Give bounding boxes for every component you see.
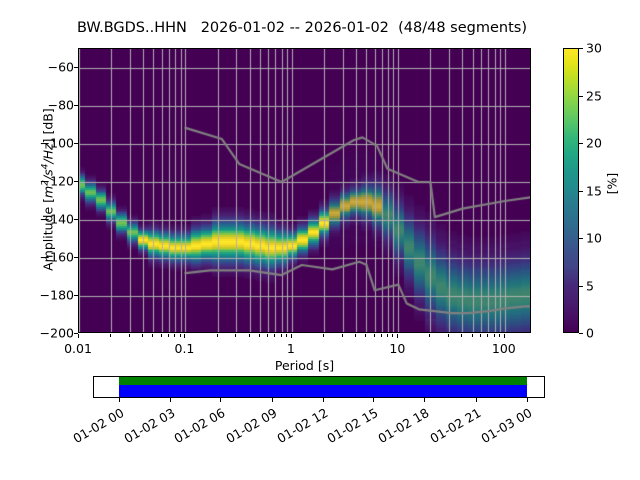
y-tick-mark	[74, 219, 78, 220]
y-tick-mark	[74, 143, 78, 144]
x-tick-mark-minor	[274, 334, 275, 337]
coverage-axes	[93, 376, 545, 398]
x-tick-mark-minor	[355, 334, 356, 337]
y-tick-mark	[74, 67, 78, 68]
y-tick-mark	[74, 105, 78, 106]
colorbar	[563, 48, 579, 333]
coverage-tick-mark	[373, 398, 374, 402]
x-tick-mark-minor	[381, 334, 382, 337]
x-tick-mark-minor	[161, 334, 162, 337]
coverage-tick-label: 01-02 00	[65, 405, 126, 449]
y-axis-ticks: −60−80−100−120−140−160−180−200	[0, 48, 74, 333]
x-tick-mark-minor	[259, 334, 260, 337]
colorbar-tick-mark	[579, 143, 583, 144]
y-tick-label: −200	[2, 326, 74, 341]
x-tick-mark-minor	[472, 334, 473, 337]
x-tick-label: 100	[474, 341, 534, 356]
coverage-tick-mark	[527, 398, 528, 402]
y-tick-label: −160	[2, 250, 74, 265]
x-tick-mark-major	[397, 334, 398, 338]
colorbar-tick-mark	[579, 191, 583, 192]
coverage-band-blue	[119, 385, 527, 397]
colorbar-tick-label: 20	[586, 136, 602, 151]
colorbar-tick-mark	[579, 333, 583, 334]
coverage-tick-label: 01-02 09	[218, 405, 279, 449]
x-tick-mark-minor	[168, 334, 169, 337]
y-tick-label: −80	[2, 98, 74, 113]
colorbar-tick-label: 10	[586, 231, 602, 246]
x-tick-mark-minor	[152, 334, 153, 337]
coverage-tick-mark	[323, 398, 324, 402]
x-tick-mark-minor	[235, 334, 236, 337]
x-tick-mark-major	[504, 334, 505, 338]
colorbar-tick-mark	[579, 96, 583, 97]
coverage-tick-mark	[424, 398, 425, 402]
y-axis-label-math: m2/s4/Hz	[41, 143, 56, 198]
x-tick-mark-minor	[374, 334, 375, 337]
x-tick-mark-minor	[494, 334, 495, 337]
y-axis-label-prefix: Amplitude [	[41, 198, 56, 271]
colorbar-tick-label: 5	[586, 278, 594, 293]
x-tick-mark-minor	[499, 334, 500, 337]
y-tick-label: −140	[2, 212, 74, 227]
x-tick-mark-minor	[286, 334, 287, 337]
x-tick-mark-minor	[281, 334, 282, 337]
coverage-tick-label: 01-02 12	[269, 405, 330, 449]
x-tick-mark-minor	[110, 334, 111, 337]
colorbar-tick-label: 15	[586, 183, 602, 198]
x-tick-mark-minor	[180, 334, 181, 337]
y-tick-label: −100	[2, 136, 74, 151]
colorbar-tick-label: 25	[586, 88, 602, 103]
colorbar-tick-mark	[579, 238, 583, 239]
y-tick-label: −180	[2, 288, 74, 303]
y-tick-mark	[74, 181, 78, 182]
coverage-tick-label: 01-02 03	[116, 405, 177, 449]
colorbar-tick-mark	[579, 48, 583, 49]
colorbar-tick-label: 30	[586, 41, 602, 56]
coverage-tick-mark	[476, 398, 477, 402]
noise-model-curves	[79, 49, 531, 333]
coverage-tick-mark	[220, 398, 221, 402]
x-tick-mark-minor	[174, 334, 175, 337]
x-tick-mark-minor	[267, 334, 268, 337]
coverage-tick-label: 01-02 21	[422, 405, 483, 449]
x-tick-mark-minor	[342, 334, 343, 337]
x-tick-mark-major	[291, 334, 292, 338]
coverage-band-green	[119, 377, 527, 385]
coverage-tick-label: 01-03 00	[473, 405, 534, 449]
ppsd-axes	[78, 48, 531, 333]
y-tick-label: −60	[2, 60, 74, 75]
x-tick-mark-minor	[217, 334, 218, 337]
coverage-tick-label: 01-02 15	[320, 405, 381, 449]
coverage-data-span	[119, 377, 527, 397]
x-axis-label: Period [s]	[78, 358, 531, 373]
y-axis-label: Amplitude [m2/s4/Hz] [dB]	[40, 50, 55, 330]
x-tick-mark-minor	[392, 334, 393, 337]
x-tick-mark-minor	[142, 334, 143, 337]
x-tick-label: 0.01	[48, 341, 108, 356]
colorbar-label: [%]	[605, 164, 620, 204]
coverage-tick-mark	[170, 398, 171, 402]
ppsd-figure: BW.BGDS..HHN 2026-01-02 -- 2026-01-02 (4…	[0, 0, 640, 480]
coverage-tick-mark	[119, 398, 120, 402]
x-tick-mark-minor	[480, 334, 481, 337]
x-tick-mark-major	[78, 334, 79, 338]
coverage-tick-label: 01-02 06	[167, 405, 228, 449]
x-tick-mark-minor	[323, 334, 324, 337]
coverage-time-ticks: 01-02 0001-02 0301-02 0601-02 0901-02 12…	[93, 398, 545, 410]
colorbar-tick-mark	[579, 286, 583, 287]
x-tick-mark-minor	[387, 334, 388, 337]
y-tick-mark	[74, 257, 78, 258]
y-axis-label-suffix: ] [dB]	[41, 108, 56, 143]
x-tick-mark-minor	[249, 334, 250, 337]
x-tick-label: 1	[261, 341, 321, 356]
x-tick-label: 10	[367, 341, 427, 356]
x-tick-mark-minor	[448, 334, 449, 337]
plot-title: BW.BGDS..HHN 2026-01-02 -- 2026-01-02 (4…	[0, 20, 604, 36]
x-tick-label: 0.1	[154, 341, 214, 356]
x-tick-mark-major	[184, 334, 185, 338]
x-tick-mark-minor	[461, 334, 462, 337]
coverage-tick-label: 01-02 18	[371, 405, 432, 449]
y-tick-mark	[74, 295, 78, 296]
x-tick-mark-minor	[429, 334, 430, 337]
colorbar-tick-label: 0	[586, 326, 594, 341]
x-tick-mark-minor	[129, 334, 130, 337]
x-tick-mark-minor	[487, 334, 488, 337]
x-tick-mark-minor	[365, 334, 366, 337]
y-tick-label: −120	[2, 174, 74, 189]
coverage-tick-mark	[272, 398, 273, 402]
